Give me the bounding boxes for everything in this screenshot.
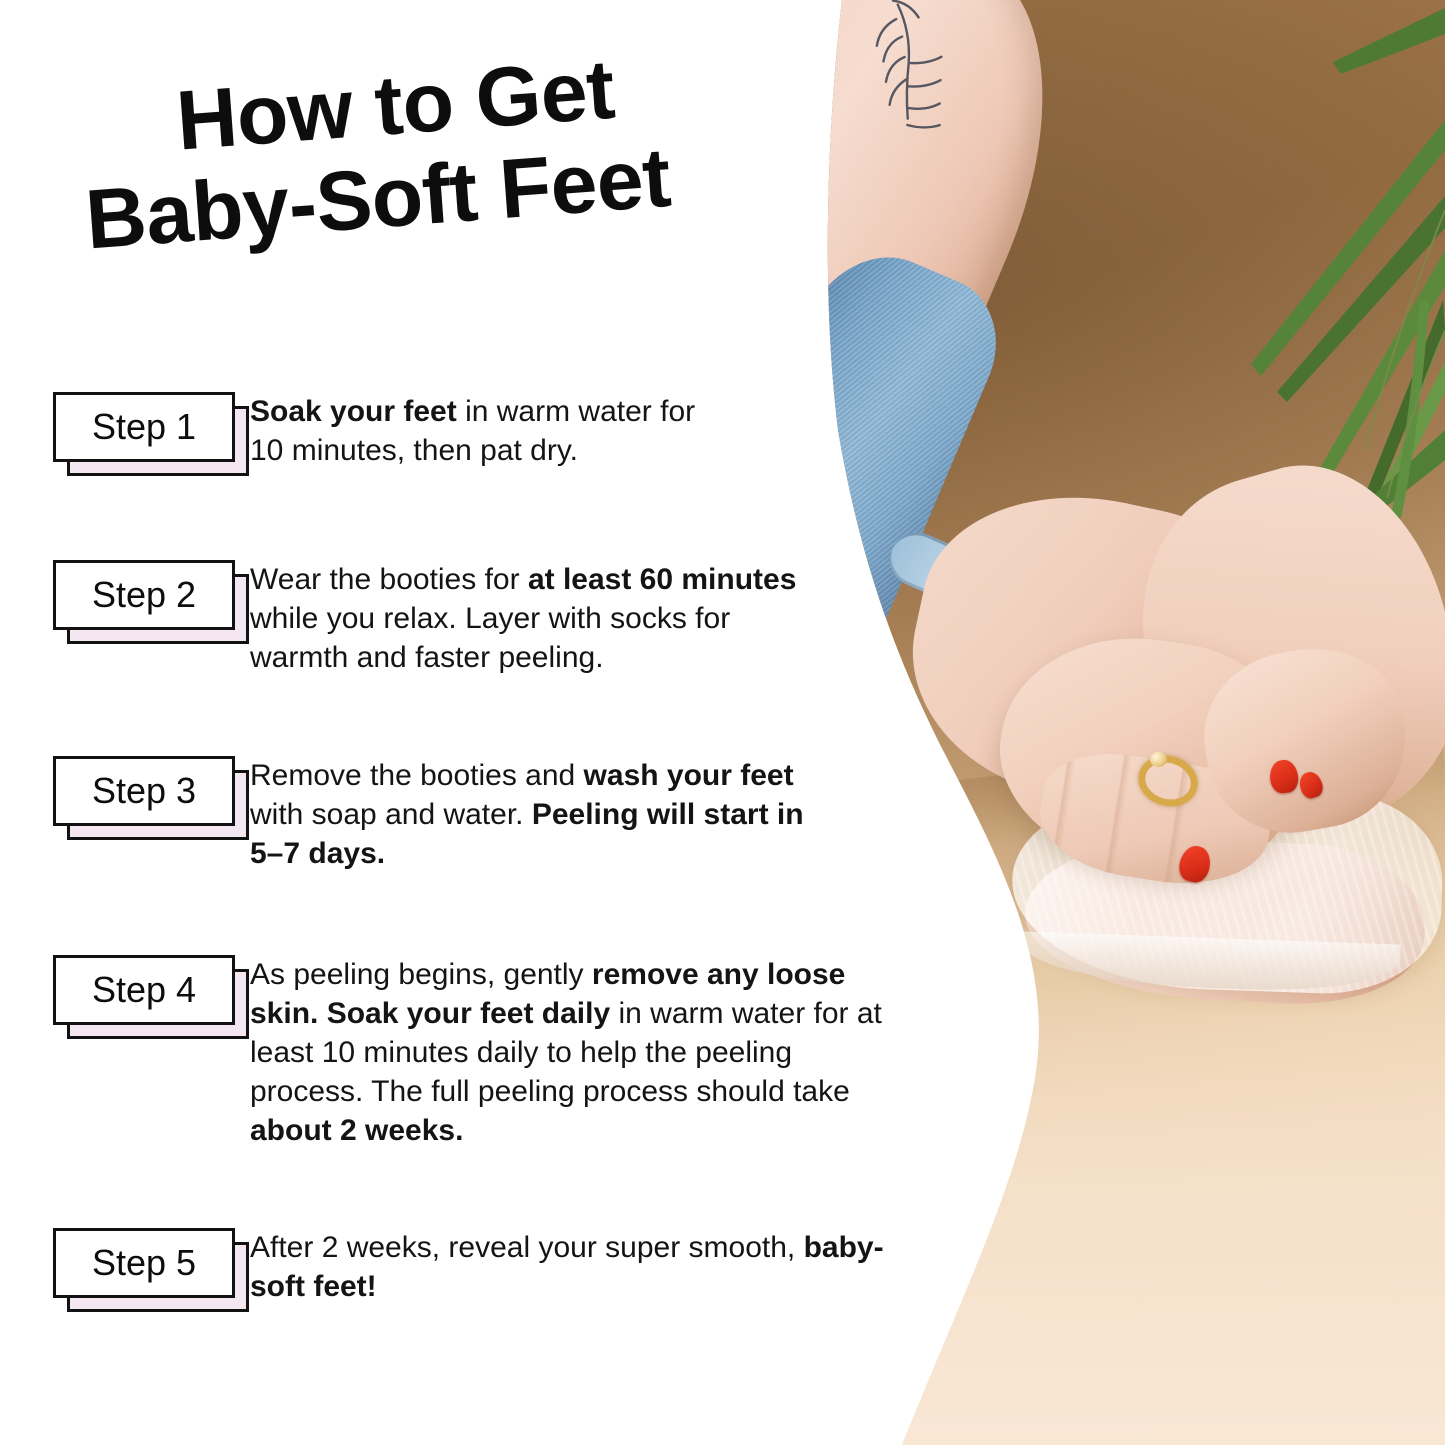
step-badge-box: Step 5 <box>53 1228 235 1298</box>
step-description: As peeling begins, gently remove any loo… <box>250 955 920 1150</box>
step-badge-3: Step 3 <box>0 756 250 848</box>
step-badge-box: Step 3 <box>53 756 235 826</box>
step-row: Step 3 Remove the booties and wash your … <box>0 756 980 873</box>
step-badge-box: Step 1 <box>53 392 235 462</box>
step-badge-label: Step 3 <box>92 773 196 809</box>
step-badge-label: Step 1 <box>92 409 196 445</box>
step-description: Wear the booties for at least 60 minutes… <box>250 560 815 677</box>
step-badge-label: Step 2 <box>92 577 196 613</box>
step-row: Step 5 After 2 weeks, reveal your super … <box>0 1228 980 1320</box>
step-badge-5: Step 5 <box>0 1228 250 1320</box>
step-badge-2: Step 2 <box>0 560 250 652</box>
step-row: Step 4 As peeling begins, gently remove … <box>0 955 980 1150</box>
step-description: Remove the booties and wash your feet wi… <box>250 756 830 873</box>
step-badge-label: Step 4 <box>92 972 196 1008</box>
step-badge-label: Step 5 <box>92 1245 196 1281</box>
step-badge-box: Step 4 <box>53 955 235 1025</box>
step-badge-4: Step 4 <box>0 955 250 1047</box>
step-row: Step 2 Wear the booties for at least 60 … <box>0 560 980 677</box>
step-badge-1: Step 1 <box>0 392 250 484</box>
infographic-page: How to Get Baby-Soft Feet Step 1 Soak yo… <box>0 0 1445 1445</box>
step-description: Soak your feet in warm water for 10 minu… <box>250 392 730 470</box>
step-badge-box: Step 2 <box>53 560 235 630</box>
ring-gemstone <box>1150 752 1167 767</box>
step-description: After 2 weeks, reveal your super smooth,… <box>250 1228 900 1306</box>
step-row: Step 1 Soak your feet in warm water for … <box>0 392 980 484</box>
